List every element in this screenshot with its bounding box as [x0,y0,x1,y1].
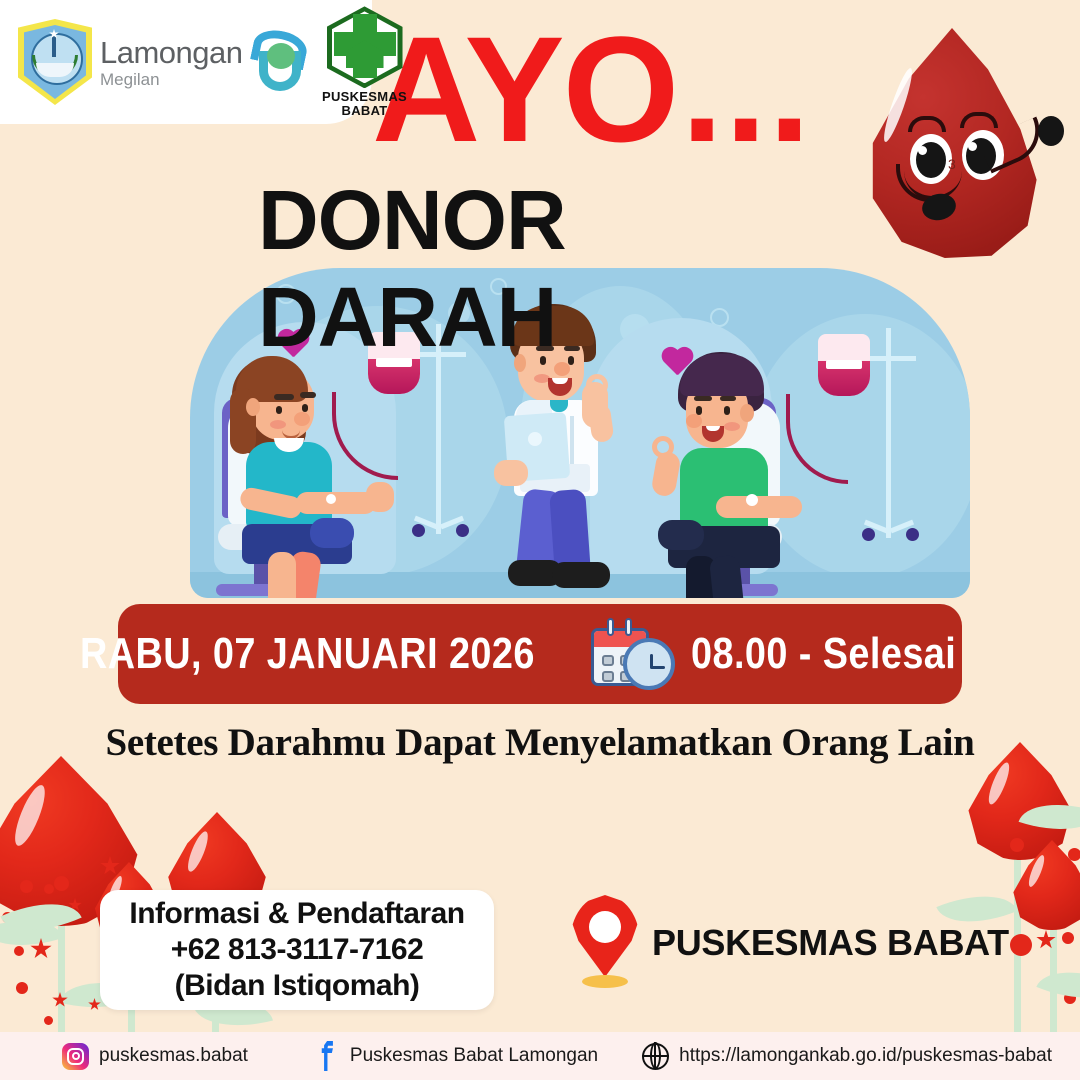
puskesmas-label-line1: PUSKESMAS [319,90,411,104]
info-heading: Informasi & Pendaftaran [129,897,464,931]
headline-ayo-text: AYO [372,3,677,176]
event-date-banner: RABU, 07 JANUARI 2026 08.00 - Selesai [118,604,962,704]
lamongan-title: Lamongan [100,37,243,68]
page-title-donor-darah: DONOR DARAH [258,172,878,366]
facebook-icon [314,1041,340,1071]
sparkle-dot [20,880,33,893]
map-pin-icon [570,895,640,991]
footer-instagram[interactable]: puskesmas.babat [62,1043,248,1070]
green-cross-hex-icon [327,6,403,88]
blood-drop-mascot-icon: 3 [862,28,1062,268]
social-footer-bar: puskesmas.babat Puskesmas Babat Lamongan… [0,1032,1080,1080]
info-contact-person: (Bidan Istiqomah) [175,969,420,1003]
lamongan-subtitle: Megilan [100,71,243,88]
sparkle-dot [16,982,28,994]
puskesmas-logo: PUSKESMAS BABAT [319,6,411,117]
lamongan-crest-icon [18,19,92,105]
event-date-text: RABU, 07 JANUARI 2026 [80,629,535,679]
calendar-clock-icon [589,618,675,690]
puskesmas-label-line2: BABAT [319,104,411,118]
megilan-wave-icon [249,25,311,99]
location-row: PUSKESMAS BABAT [570,895,1009,991]
registration-info-box: Informasi & Pendaftaran +62 813-3117-716… [100,890,494,1010]
poster-canvas: Lamongan Megilan PUSKESMAS BABAT AYO ...… [0,0,1080,1080]
sparkle-dot [14,946,24,956]
globe-icon [642,1043,669,1070]
website-url: https://lamongankab.go.id/puskesmas-baba… [679,1045,1052,1067]
instagram-icon [62,1043,89,1070]
event-time-text: 08.00 - Selesai [691,629,956,679]
lamongan-wordmark: Lamongan Megilan [100,37,243,88]
sparkle-dot [1062,932,1074,944]
instagram-handle: puskesmas.babat [99,1045,248,1067]
page-title-ayo: AYO ... [372,16,892,162]
facebook-handle: Puskesmas Babat Lamongan [350,1045,598,1067]
headline-ellipsis: ... [681,3,812,176]
tagline-text: Setetes Darahmu Dapat Menyelamatkan Oran… [0,720,1080,765]
location-label: PUSKESMAS BABAT [652,922,1009,964]
sparkle-dot [1068,848,1080,861]
footer-website[interactable]: https://lamongankab.go.id/puskesmas-baba… [642,1043,1052,1070]
sparkle-dot [44,1016,53,1025]
footer-facebook[interactable]: Puskesmas Babat Lamongan [314,1041,598,1071]
logo-header-card: Lamongan Megilan PUSKESMAS BABAT [0,0,372,124]
blood-drop-flower-right-2 [1000,840,1080,1060]
info-phone[interactable]: +62 813-3117-7162 [171,933,424,967]
sparkle-dot [44,884,54,894]
